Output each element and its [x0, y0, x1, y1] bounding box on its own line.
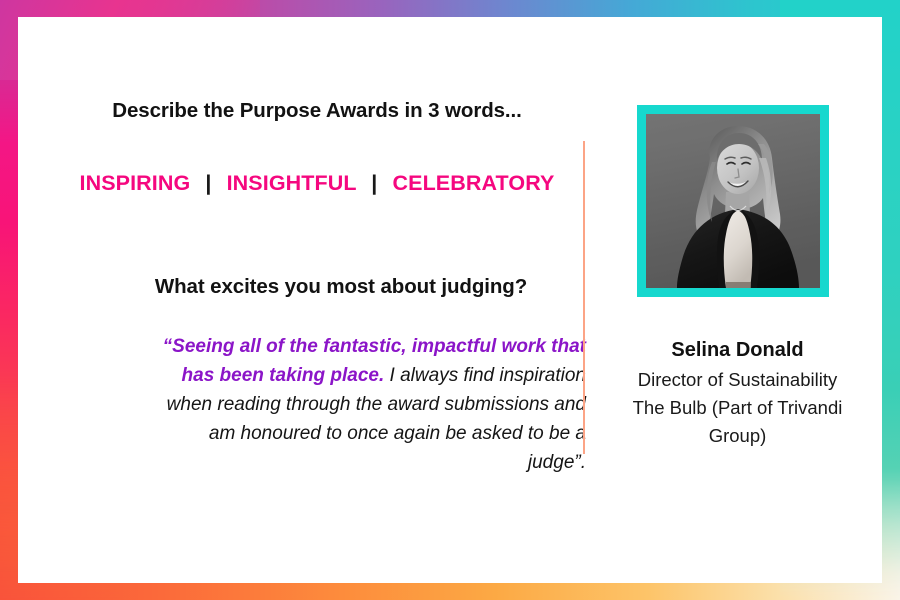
three-words-separator-2: |: [362, 171, 386, 195]
question-1-heading: Describe the Purpose Awards in 3 words..…: [52, 99, 582, 123]
portrait-photo-illustration: [646, 114, 820, 288]
person-role-line-3: Group): [709, 425, 767, 446]
left-column: Describe the Purpose Awards in 3 words..…: [52, 17, 582, 583]
person-role: Director of Sustainability The Bulb (Par…: [597, 366, 878, 450]
three-words-item-1: INSPIRING: [80, 171, 191, 195]
white-content-card: Describe the Purpose Awards in 3 words..…: [18, 17, 882, 583]
three-words-item-3: CELEBRATORY: [393, 171, 555, 195]
judge-quote: “Seeing all of the fantastic, impactful …: [156, 332, 586, 477]
person-role-line-1: Director of Sustainability: [638, 369, 837, 390]
three-words-item-2: INSIGHTFUL: [227, 171, 357, 195]
slide-canvas: Describe the Purpose Awards in 3 words..…: [0, 0, 900, 600]
person-name: Selina Donald: [593, 339, 882, 362]
right-column: Selina Donald Director of Sustainability…: [593, 17, 882, 583]
card-content: Describe the Purpose Awards in 3 words..…: [18, 17, 882, 583]
three-words-separator-1: |: [196, 171, 220, 195]
portrait-photo: [646, 114, 820, 288]
column-divider: [583, 141, 585, 454]
portrait-photo-frame: [637, 105, 829, 297]
three-words-row: INSPIRING | INSIGHTFUL | CELEBRATORY: [52, 171, 582, 196]
person-role-line-2: The Bulb (Part of Trivandi: [633, 397, 843, 418]
question-2-heading: What excites you most about judging?: [96, 275, 586, 299]
